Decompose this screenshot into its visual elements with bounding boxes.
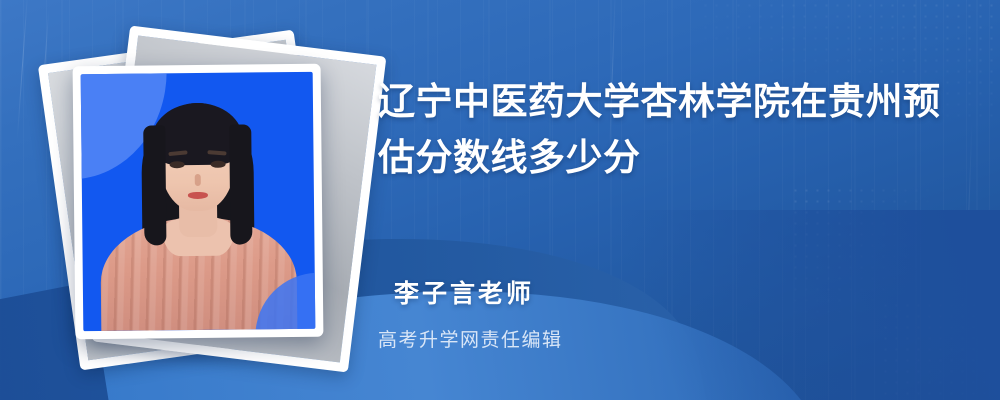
author-name: 李子言老师 [378,274,938,310]
article-header-banner: 辽宁中医药大学杏林学院在贵州预估分数线多少分 李子言老师 高考升学网责任编辑 [0,0,1000,400]
banner-text-column: 辽宁中医药大学杏林学院在贵州预估分数线多少分 李子言老师 高考升学网责任编辑 [378,0,978,400]
author-role: 高考升学网责任编辑 [378,325,938,352]
portrait-hair-left [143,125,166,245]
light-streak-line [17,0,28,140]
author-photo [81,72,316,331]
portrait-illustration [81,72,316,331]
photo-card-stack [48,28,358,368]
author-byline: 李子言老师 高考升学网责任编辑 [378,274,938,352]
portrait-hair-right [229,124,252,244]
author-photo-card [73,64,324,340]
portrait-nose [195,174,201,186]
page-title: 辽宁中医药大学杏林学院在贵州预估分数线多少分 [378,74,958,186]
